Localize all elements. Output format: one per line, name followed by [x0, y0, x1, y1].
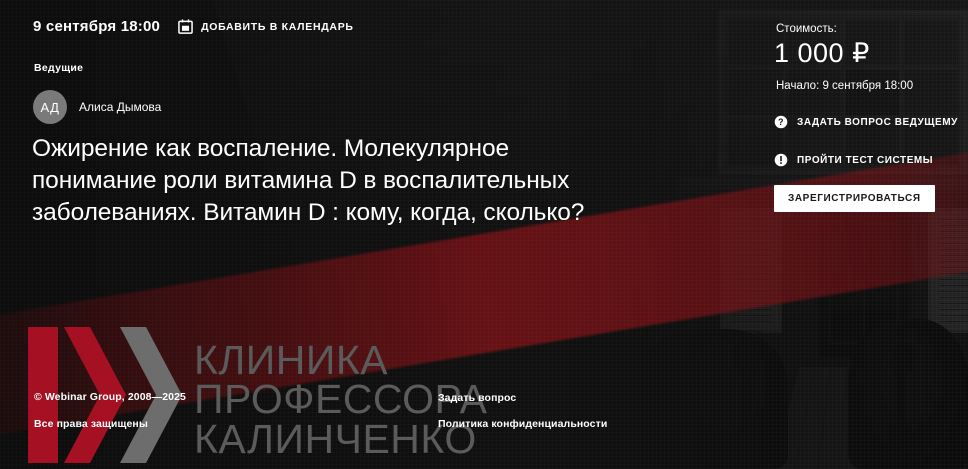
add-to-calendar-label: ДОБАВИТЬ В КАЛЕНДАРЬ	[201, 21, 354, 33]
price-label: Стоимость:	[776, 23, 837, 35]
add-to-calendar-button[interactable]: ДОБАВИТЬ В КАЛЕНДАРЬ	[178, 19, 354, 34]
exclamation-circle-icon	[774, 153, 788, 167]
webinar-landing-page: КЛИНИКА ПРОФЕССОРА КАЛИНЧЕНКО 9 сентября…	[0, 0, 968, 469]
footer-ask-question-link[interactable]: Задать вопрос	[438, 392, 516, 404]
start-time: Начало: 9 сентября 18:00	[776, 80, 913, 92]
hosts-label: Ведущие	[34, 62, 83, 74]
system-test-label: ПРОЙТИ ТЕСТ СИСТЕМЫ	[797, 155, 933, 166]
ask-question-label: ЗАДАТЬ ВОПРОС ВЕДУЩЕМУ	[797, 117, 958, 128]
register-button[interactable]: ЗАРЕГИСТРИРОВАТЬСЯ	[774, 185, 935, 212]
page-title: Ожирение как воспаление. Молекулярное по…	[32, 133, 622, 229]
host-row[interactable]: АД Алиса Дымова	[33, 90, 161, 124]
footer-privacy-link[interactable]: Политика конфиденциальности	[438, 418, 607, 430]
price-value: 1 000 ₽	[774, 38, 870, 69]
system-test-link[interactable]: ПРОЙТИ ТЕСТ СИСТЕМЫ	[774, 153, 933, 167]
event-date-time: 9 сентября 18:00	[33, 18, 160, 35]
svg-text:?: ?	[778, 117, 784, 127]
calendar-icon	[178, 19, 193, 34]
avatar: АД	[33, 90, 67, 124]
event-date-bar: 9 сентября 18:00 ДОБАВИТЬ В КАЛЕНДАРЬ	[33, 18, 354, 35]
host-name: Алиса Дымова	[79, 100, 161, 114]
footer-rights: Все права защищены	[34, 418, 148, 430]
ask-question-to-host-link[interactable]: ? ЗАДАТЬ ВОПРОС ВЕДУЩЕМУ	[774, 115, 958, 129]
footer-copyright: © Webinar Group, 2008—2025	[34, 391, 186, 403]
question-circle-icon: ?	[774, 115, 788, 129]
